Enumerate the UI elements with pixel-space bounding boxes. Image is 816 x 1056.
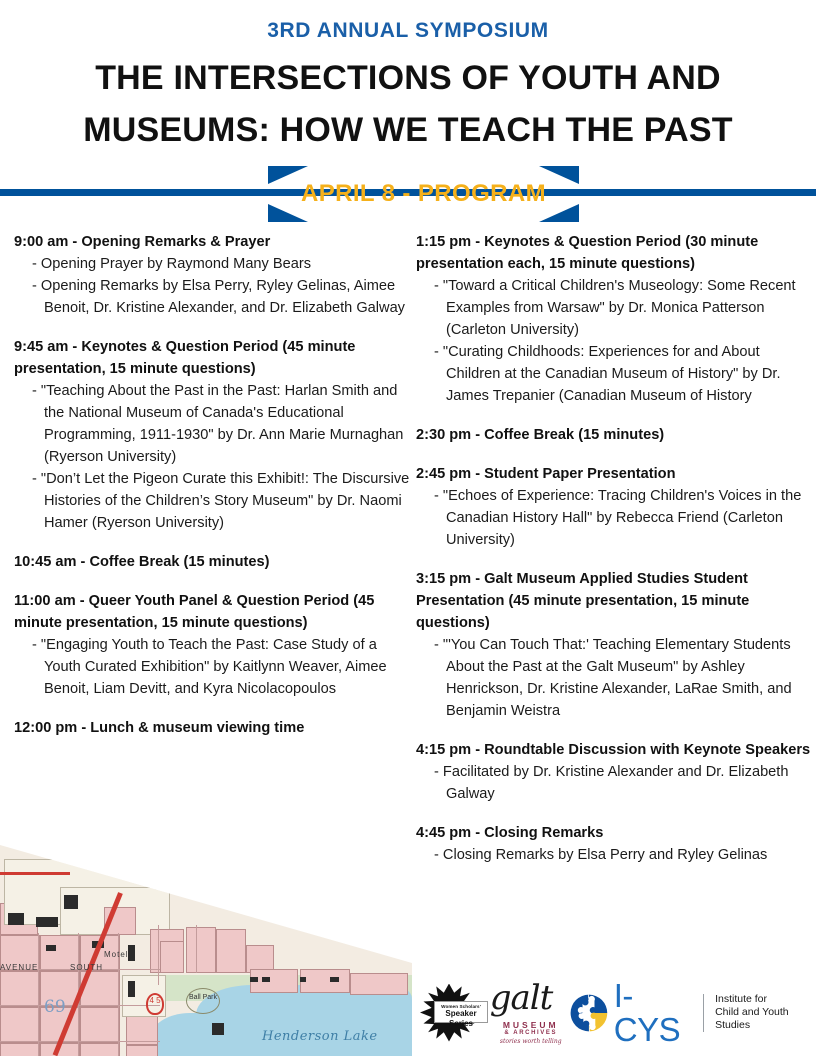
program-item-list: - "'You Can Touch That:' Teaching Elemen… — [416, 634, 812, 722]
program-slot-title: 3:15 pm - Galt Museum Applied Studies St… — [416, 568, 812, 634]
program-item-list: - "Echoes of Experience: Tracing Childre… — [416, 485, 812, 551]
map-building — [64, 895, 78, 909]
poster-header: 3RD ANNUAL SYMPOSIUM THE INTERSECTIONS O… — [0, 0, 816, 230]
map-street-line — [0, 1005, 160, 1006]
sponsor-logo-row: Women Scholars' Speaker Series galt MUSE… — [416, 975, 816, 1050]
program-column-afternoon: 1:15 pm - Keynotes & Question Period (30… — [416, 231, 812, 866]
logo-divider — [703, 994, 704, 1032]
icys-acronym: I-CYS — [614, 979, 691, 1047]
program-slot-title: 2:30 pm - Coffee Break (15 minutes) — [416, 424, 812, 446]
program-block: 11:00 am - Queer Youth Panel & Question … — [14, 590, 412, 700]
program-slot-title: 4:45 pm - Closing Remarks — [416, 822, 812, 844]
map-motel-label: Motel — [104, 950, 129, 959]
map-section-number: 69 — [44, 997, 66, 1017]
map-avenue-label: AVENUE — [0, 963, 38, 972]
program-item: - "Don’t Let the Pigeon Curate this Exhi… — [14, 468, 412, 534]
program-block: 10:45 am - Coffee Break (15 minutes) — [14, 551, 412, 573]
program-slot-title: 1:15 pm - Keynotes & Question Period (30… — [416, 231, 812, 275]
program-slot-title: 2:45 pm - Student Paper Presentation — [416, 463, 812, 485]
map-ball-park-label: Ball Park — [186, 988, 220, 1014]
program-item: - "Teaching About the Past in the Past: … — [14, 380, 412, 468]
map-building — [128, 981, 135, 997]
program-block: 1:15 pm - Keynotes & Question Period (30… — [416, 231, 812, 407]
program-item-list: - "Toward a Critical Children's Museolog… — [416, 275, 812, 407]
program-item: - "Engaging Youth to Teach the Past: Cas… — [14, 634, 412, 700]
map-block — [80, 1043, 120, 1056]
program-slot-title: 9:45 am - Keynotes & Question Period (45… — [14, 336, 412, 380]
puzzle-circle-icon — [569, 991, 609, 1035]
program-item-list: - Closing Remarks by Elsa Perry and Ryle… — [416, 844, 812, 866]
map-highway-red-horizontal — [0, 872, 70, 875]
program-item: - Opening Remarks by Elsa Perry, Ryley G… — [14, 275, 412, 319]
program-block: 2:45 pm - Student Paper Presentation- "E… — [416, 463, 812, 551]
program-item: - "'You Can Touch That:' Teaching Elemen… — [416, 634, 812, 722]
program-column-morning: 9:00 am - Opening Remarks & Prayer- Open… — [14, 231, 412, 739]
galt-archives-label: & ARCHIVES — [498, 1030, 564, 1036]
program-slot-title: 11:00 am - Queer Youth Panel & Question … — [14, 590, 412, 634]
wss-line-2: Speaker Series — [435, 1009, 487, 1029]
map-street-line — [158, 925, 159, 985]
program-slot-title: 4:15 pm - Roundtable Discussion with Key… — [416, 739, 812, 761]
icys-institute-name: Institute for Child and Youth Studies — [715, 993, 816, 1032]
map-block — [216, 929, 246, 973]
program-item: - "Echoes of Experience: Tracing Childre… — [416, 485, 812, 551]
map-block — [0, 1043, 40, 1056]
program-block: 4:45 pm - Closing Remarks- Closing Remar… — [416, 822, 812, 866]
galt-tagline: stories worth telling — [498, 1038, 564, 1045]
page-title: THE INTERSECTIONS OF YOUTH AND MUSEUMS: … — [38, 52, 778, 156]
program-item-list: - Facilitated by Dr. Kristine Alexander … — [416, 761, 812, 805]
program-slot-title: 9:00 am - Opening Remarks & Prayer — [14, 231, 412, 253]
map-building — [330, 977, 339, 982]
icys-sub-line-2: Child and Youth Studies — [715, 1006, 816, 1032]
women-scholars-speaker-series-logo: Women Scholars' Speaker Series — [416, 980, 484, 1046]
wss-line-1: Women Scholars' — [435, 1004, 487, 1009]
program-block: 4:15 pm - Roundtable Discussion with Key… — [416, 739, 812, 805]
map-block — [186, 927, 216, 973]
map-highway-shield: 4 5 — [146, 993, 164, 1015]
program-item: - "Curating Childhoods: Experiences for … — [416, 341, 812, 407]
wss-label-box: Women Scholars' Speaker Series — [434, 1001, 488, 1023]
program-block: 3:15 pm - Galt Museum Applied Studies St… — [416, 568, 812, 722]
map-street-line — [0, 1041, 160, 1042]
map-building — [36, 917, 58, 927]
map-building — [300, 977, 306, 982]
icys-sub-line-1: Institute for — [715, 993, 816, 1006]
program-slot-title: 10:45 am - Coffee Break (15 minutes) — [14, 551, 412, 573]
map-block — [160, 941, 184, 973]
program-ribbon-label: APRIL 8 - PROGRAM — [268, 166, 579, 222]
program-item: - "Toward a Critical Children's Museolog… — [416, 275, 812, 341]
map-street-line — [196, 925, 197, 973]
galt-museum-archives-logo: galt MUSEUM & ARCHIVES stories worth tel… — [488, 978, 561, 1048]
icys-logo: I-CYS Institute for Child and Youth Stud… — [569, 979, 816, 1047]
program-item: - Opening Prayer by Raymond Many Bears — [14, 253, 412, 275]
map-building — [128, 945, 135, 961]
map-street-line — [38, 933, 39, 1056]
program-block: 12:00 pm - Lunch & museum viewing time — [14, 717, 412, 739]
program-slot-title: 12:00 pm - Lunch & museum viewing time — [14, 717, 412, 739]
symposium-eyebrow: 3RD ANNUAL SYMPOSIUM — [0, 19, 816, 43]
map-block — [0, 1007, 40, 1043]
program-block: 9:00 am - Opening Remarks & Prayer- Open… — [14, 231, 412, 319]
map-building — [250, 977, 258, 982]
map-block — [0, 971, 40, 1007]
program-item: - Facilitated by Dr. Kristine Alexander … — [416, 761, 812, 805]
galt-museum-label: MUSEUM — [498, 1020, 564, 1030]
map-building — [8, 913, 24, 925]
program-block: 2:30 pm - Coffee Break (15 minutes) — [416, 424, 812, 446]
map-block — [80, 1007, 120, 1043]
program-item-list: - "Teaching About the Past in the Past: … — [14, 380, 412, 534]
program-item: - Closing Remarks by Elsa Perry and Ryle… — [416, 844, 812, 866]
map-building — [46, 945, 56, 951]
galt-script-wordmark: galt — [490, 980, 568, 1016]
map-block — [350, 973, 408, 995]
map-lake-shape-2 — [150, 1013, 240, 1056]
map-building — [262, 977, 270, 982]
map-lake-label: Henderson Lake — [262, 1029, 378, 1044]
map-block — [126, 1045, 158, 1056]
program-item-list: - Opening Prayer by Raymond Many Bears- … — [14, 253, 412, 319]
map-south-label: SOUTH — [70, 963, 103, 972]
program-block: 9:45 am - Keynotes & Question Period (45… — [14, 336, 412, 534]
map-block — [300, 969, 350, 993]
program-item-list: - "Engaging Youth to Teach the Past: Cas… — [14, 634, 412, 700]
map-building — [212, 1023, 224, 1035]
